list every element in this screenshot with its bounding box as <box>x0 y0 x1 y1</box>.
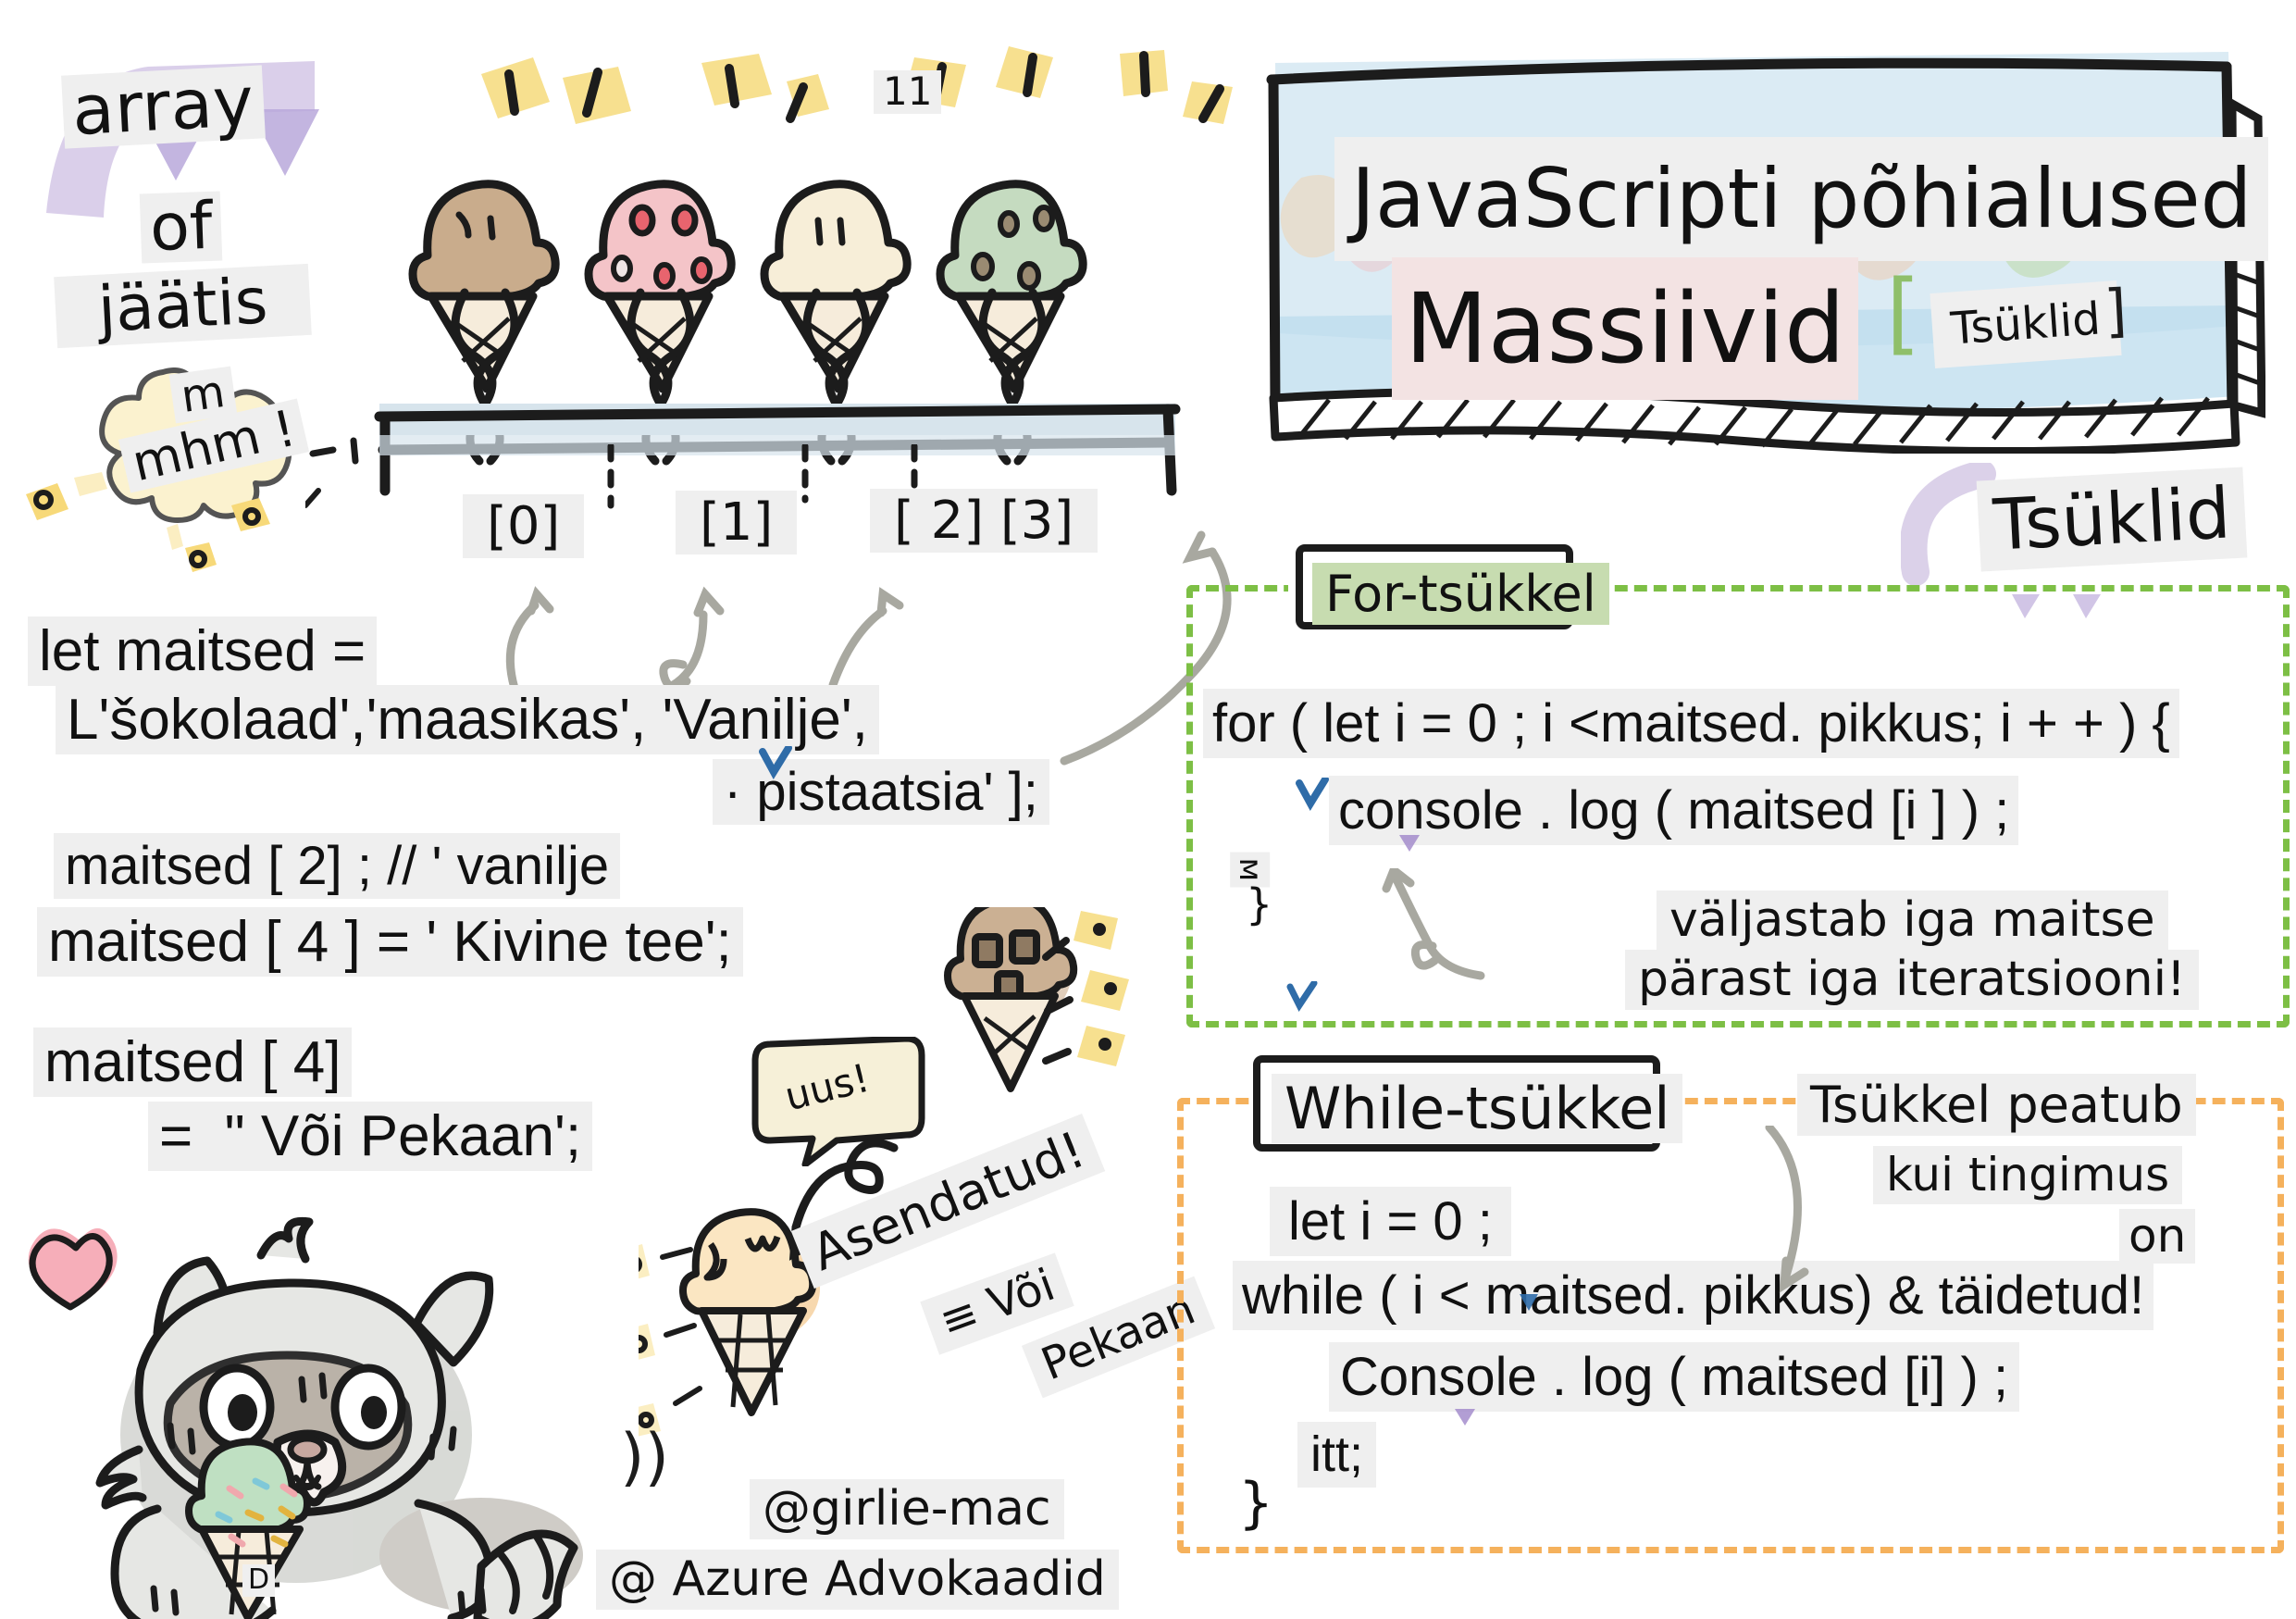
blue-check-mark-icon <box>759 746 796 783</box>
while-loop-annotation-line1: Tsükkel peatub <box>1797 1074 2196 1136</box>
credit-author: @girlie-mac <box>750 1479 1064 1539</box>
credit-org: @ Azure Advokaadid <box>596 1550 1119 1610</box>
array-label-line3: jäätis <box>54 264 312 349</box>
purple-marker-icon <box>1397 833 1425 861</box>
sketchnote-canvas: array of jäätis m mhm ! <box>0 0 2296 1619</box>
while-loop-code-line2: while ( i < maitsed. pikkus) & täidetud! <box>1233 1261 2153 1330</box>
while-loop-code-line4: itt; <box>1297 1422 1376 1488</box>
ice-cream-stand-illustration <box>370 111 1231 500</box>
title-bracket-open: [ <box>1877 267 1930 361</box>
raccoon-illustration <box>19 1203 592 1619</box>
code-let-maitsed: let maitsed = <box>28 616 377 686</box>
while-loop-label: While-tsükkel <box>1272 1074 1682 1143</box>
for-loop-annotation-line2: pärast iga iteratsiooni! <box>1625 950 2199 1010</box>
code-assign-index-4: maitsed [ 4 ] = ' Kivine tee'; <box>37 907 743 977</box>
index-label-1: [1] <box>676 491 797 554</box>
purple-marker-icon-2 <box>1453 1407 1481 1435</box>
while-loop-code-line1: let i = 0 ; <box>1270 1187 1511 1256</box>
title-heading: JavaScripti põhialused <box>1334 137 2268 261</box>
surprised-ice-cream-illustration <box>907 907 1148 1157</box>
while-loop-brace-close: } <box>1229 1474 1283 1534</box>
code-access-index-2: maitsed [ 2] ; // ' vanilje <box>54 833 620 899</box>
confetti-decoration <box>19 472 361 583</box>
for-loop-label: For-tsükkel <box>1312 563 1609 625</box>
code-reassign-value: = " Või Pekaan'; <box>148 1102 592 1171</box>
mark-d-label: D <box>242 1564 275 1597</box>
while-loop-annotation-line3: on <box>2119 1209 2195 1264</box>
code-array-values: L'šokolaad','maasikas', 'Vanilje', <box>56 685 879 754</box>
for-loop-annotation-arrow <box>1371 868 1501 989</box>
for-loop-annotation-line1: väljastab iga maitse <box>1657 890 2168 951</box>
sparkle-number: 11 <box>874 70 941 114</box>
code-reassign-index-4: maitsed [ 4] <box>33 1027 352 1097</box>
section-heading-tsuklid: Tsüklid <box>1977 467 2248 571</box>
paren-doodle: )) <box>611 1424 678 1491</box>
index-label-0: [0] <box>463 494 584 558</box>
title-panel: JavaScripti põhialused Massiivid [ Tsükl… <box>1257 39 2265 454</box>
title-topic: Massiivid <box>1392 257 1858 400</box>
title-subtopic: Tsüklid <box>1930 280 2121 368</box>
array-label-line2: of <box>140 191 223 263</box>
for-loop-code-line2: console . log ( maitsed [i ] ) ; <box>1329 776 2018 845</box>
while-loop-annotation-line2: kui tingimus <box>1873 1146 2182 1204</box>
while-loop-code-line3: Console . log ( maitsed [i] ) ; <box>1329 1342 2019 1412</box>
blue-marker-icon <box>1518 1292 1545 1320</box>
array-label-line1: array <box>61 65 265 149</box>
for-loop-brace-close: } <box>1236 881 1282 928</box>
for-loop-code-line1: for ( let i = 0 ; i <maitsed. pikkus; i … <box>1203 689 2179 758</box>
title-bracket-close: ] <box>2093 279 2138 342</box>
